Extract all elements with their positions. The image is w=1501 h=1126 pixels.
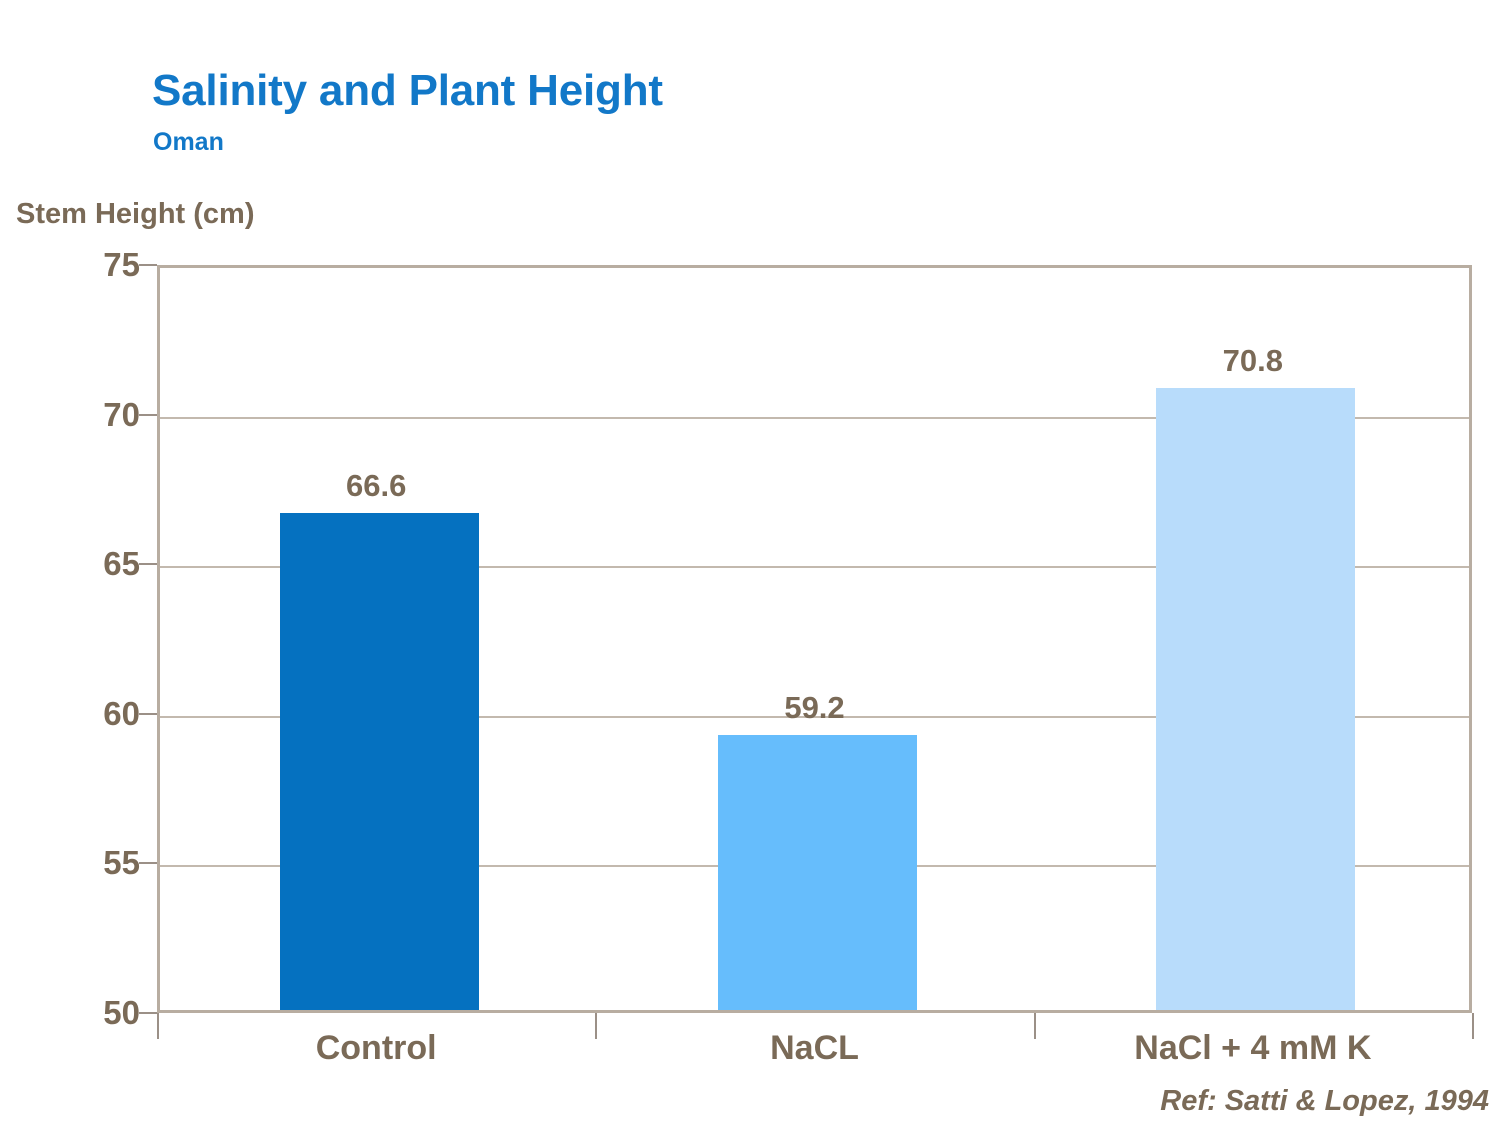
y-tick-mark-55 <box>139 862 157 864</box>
x-category-label-2: NaCl + 4 mM K <box>1134 1029 1371 1068</box>
chart-title: Salinity and Plant Height <box>152 66 663 116</box>
x-tick-mark-3 <box>1472 1013 1474 1039</box>
y-tick-label-65: 65 <box>30 545 140 583</box>
y-tick-mark-70 <box>139 414 157 416</box>
chart-reference-note: Ref: Satti & Lopez, 1994 <box>1160 1085 1489 1118</box>
bar-0[interactable] <box>280 513 479 1010</box>
bar-value-label-2: 70.8 <box>1223 343 1283 379</box>
y-tick-mark-65 <box>139 563 157 565</box>
y-tick-label-55: 55 <box>30 844 140 882</box>
bar-value-label-1: 59.2 <box>784 690 844 726</box>
y-tick-mark-50 <box>139 1012 157 1014</box>
chart-subtitle: Oman <box>153 128 224 157</box>
y-axis-tick-labels: 505560657075 <box>20 0 140 1126</box>
y-tick-mark-75 <box>139 264 157 266</box>
y-tick-label-50: 50 <box>30 994 140 1032</box>
y-tick-label-75: 75 <box>30 246 140 284</box>
x-tick-mark-0 <box>157 1013 159 1039</box>
y-tick-mark-60 <box>139 713 157 715</box>
x-tick-mark-1 <box>595 1013 597 1039</box>
bar-1[interactable] <box>718 735 917 1010</box>
x-tick-mark-2 <box>1034 1013 1036 1039</box>
bar-2[interactable] <box>1156 388 1355 1010</box>
x-category-label-1: NaCL <box>770 1029 859 1068</box>
y-tick-label-60: 60 <box>30 695 140 733</box>
bar-value-label-0: 66.6 <box>346 468 406 504</box>
y-tick-label-70: 70 <box>30 396 140 434</box>
x-category-label-0: Control <box>316 1029 437 1068</box>
